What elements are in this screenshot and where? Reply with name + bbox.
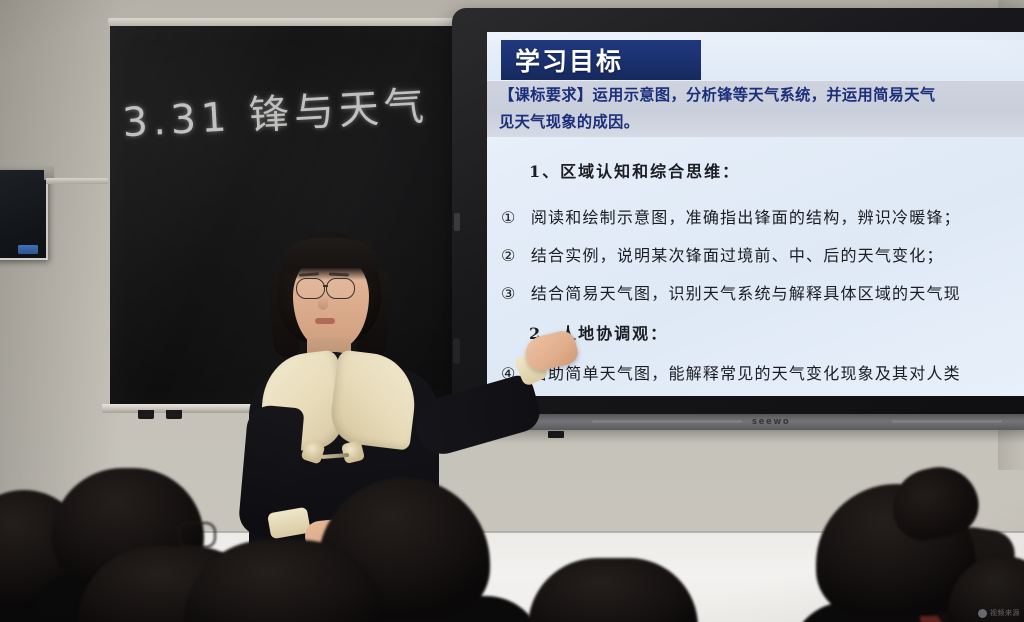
student-silhouette	[528, 558, 708, 622]
wall-panel-screen	[0, 170, 48, 260]
teacher-glasses-lens-right	[326, 278, 355, 299]
student-silhouette	[184, 540, 404, 622]
slide-list-text: 借助简单天气图，能解释常见的天气变化现象及其对人类	[523, 364, 961, 383]
teacher-collar-right	[328, 349, 421, 450]
chalk-tray-bracket	[138, 410, 154, 419]
slide-list-item: ① 阅读和绘制示意图，准确指出锋面的结构，辨识冷暖锋；	[501, 204, 961, 228]
slide-list-item: ③ 结合简易天气图，识别天气系统与解释具体区域的天气现	[501, 280, 961, 304]
wall-ledge	[46, 178, 108, 184]
watermark: 视频来源	[978, 608, 1020, 618]
slide-list-text: 结合简易天气图，识别天气系统与解释具体区域的天气现	[523, 284, 961, 303]
teacher-mouth	[315, 318, 335, 324]
display-speaker-grille	[592, 420, 742, 423]
watermark-logo-icon	[978, 609, 987, 618]
watermark-text: 视频来源	[990, 608, 1020, 618]
classroom-photo: 3.31 锋与天气 学习目标 【课标要求】运用示意图，分析锋等天气系统，并运用简…	[0, 0, 1024, 622]
slide-title: 学习目标	[501, 42, 623, 78]
wall-panel-label-icon	[18, 245, 38, 254]
chalk-tray-bracket	[166, 410, 182, 419]
slide-list-item: ② 结合实例，说明某次锋面过境前、中、后的天气变化；	[501, 242, 944, 266]
slide-list-text: 阅读和绘制示意图，准确指出锋面的结构，辨识冷暖锋；	[523, 208, 961, 227]
slide-list-text: 结合实例，说明某次锋面过境前、中、后的天气变化；	[523, 246, 944, 265]
display-brand-logo: seewo	[752, 417, 790, 427]
slide-section-heading-1: 1、区域认知和综合思维：	[529, 158, 740, 182]
teacher-nose	[318, 296, 328, 310]
teacher-arm-right	[410, 372, 545, 460]
student-head	[528, 558, 698, 622]
display-speaker-grille	[892, 420, 1002, 423]
student-head	[184, 540, 384, 622]
teacher-glasses-bridge	[323, 285, 328, 287]
slide-requirement-text: 【课标要求】运用示意图，分析锋等天气系统，并运用简易天气 见天气现象的成因。	[499, 82, 1024, 136]
slide-title-block: 学习目标	[501, 40, 701, 80]
slide-list-marker: ①	[501, 208, 517, 227]
